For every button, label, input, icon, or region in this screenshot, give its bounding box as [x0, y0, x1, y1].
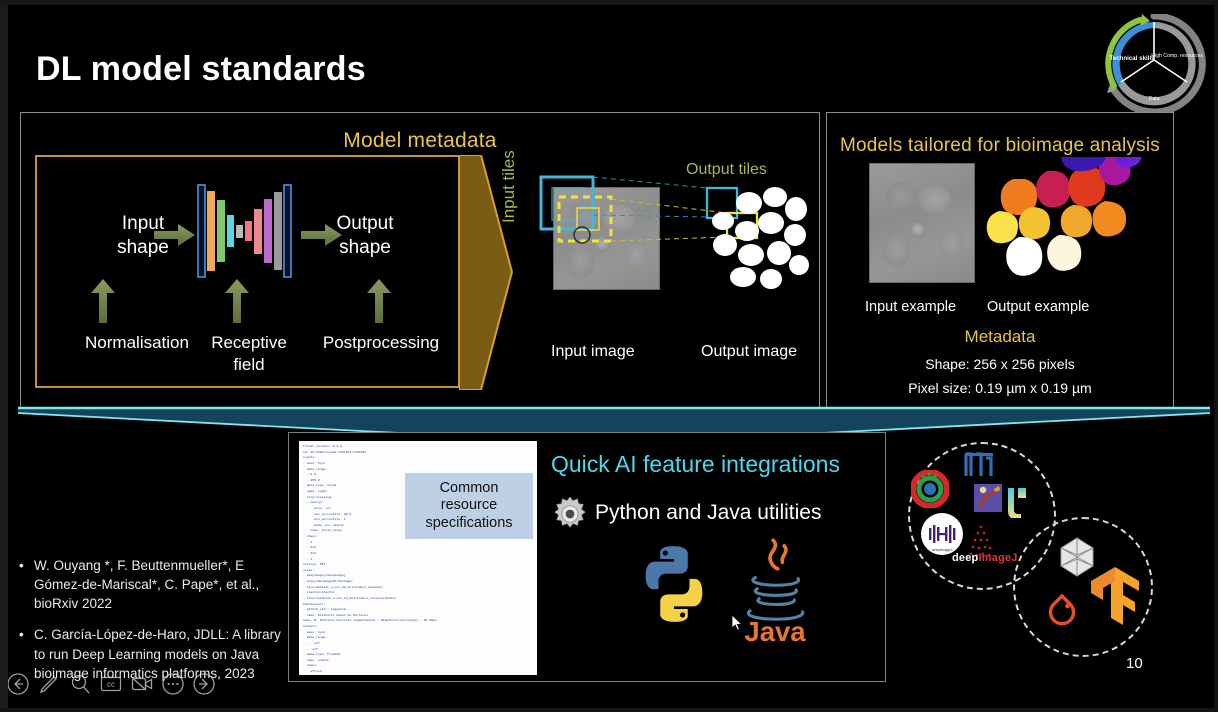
mouse-cursor	[731, 614, 743, 632]
cycle-logo: Technical skills High Comp. resources Da…	[1095, 14, 1213, 114]
zoom-icon[interactable]	[68, 672, 92, 696]
top-edge-border	[0, 0, 1218, 5]
quick-ai-title: Quick AI feature integrations	[551, 451, 840, 478]
panel-quick-ai-integrations: format_version: 0.4.9 id: 10.5281/zenodo…	[288, 432, 886, 682]
unet-architecture-icon	[37, 157, 462, 390]
panel-model-metadata: Model metadata Input shape Output shape …	[20, 112, 820, 412]
imagej-logo	[974, 484, 1002, 517]
closed-captions-icon[interactable]: cc	[99, 672, 123, 696]
bullet-icon: •	[19, 625, 24, 644]
caption-output-example: Output example	[987, 299, 1089, 315]
gear-icon	[551, 495, 589, 533]
label-output-image: Output image	[701, 343, 797, 361]
common-resource-specifications-callout: Common resource specifications	[405, 473, 533, 539]
pen-icon[interactable]	[37, 672, 61, 696]
more-options-icon[interactable]	[161, 672, 185, 696]
bioimage-output-example-thumbnail	[985, 157, 1165, 287]
cycle-segment-label-technical: Technical skills	[1109, 55, 1155, 62]
list-item: • W. Ouyang *, F. Beuttenmueller*, E Góm…	[14, 556, 282, 613]
metadata-pixelsize-line: Pixel size: 0.19 µm x 0.19 µm	[827, 380, 1173, 396]
page-title: DL model standards	[36, 50, 366, 89]
reference-text: W. Ouyang *, F. Beuttenmueller*, E Gómez…	[34, 558, 259, 611]
panel-right-title: Models tailored for bioimage analysis	[827, 135, 1173, 157]
fiji-logo	[962, 450, 996, 485]
qupath-logo	[1005, 486, 1031, 523]
tiling-illustration: Input tiles Output tiles	[501, 155, 816, 405]
svg-text:deepImageJ: deepImageJ	[932, 548, 953, 552]
cycle-segment-label-data: Data	[1149, 96, 1160, 102]
python-java-utilities-label: Python and Java utilities	[595, 501, 821, 525]
svg-text:cc: cc	[107, 680, 115, 689]
panel-bioimage-models: Models tailored for bioimage analysis In…	[826, 112, 1174, 412]
tensorflow-logo	[1089, 565, 1141, 634]
bullet-icon: •	[19, 556, 24, 575]
metadata-heading: Metadata	[827, 327, 1173, 347]
next-slide-icon[interactable]	[192, 672, 216, 696]
left-edge-border	[0, 0, 8, 712]
previous-slide-icon[interactable]	[6, 672, 30, 696]
bioimage-input-example-thumbnail	[869, 163, 975, 283]
panel-left-title: Model metadata	[21, 129, 819, 153]
label-input-image: Input image	[551, 343, 635, 361]
cycle-segment-label-resources: High Comp. resources	[1151, 53, 1203, 59]
metadata-shape-line: Shape: 256 x 256 pixels	[827, 356, 1173, 372]
icy-logo	[911, 470, 949, 513]
page-number: 10	[1126, 655, 1143, 672]
pytorch-logo	[1043, 593, 1081, 640]
java-wordmark: Java	[744, 616, 806, 643]
slide-canvas: DL model standards Technical skills High…	[0, 0, 1218, 712]
camera-off-icon[interactable]	[130, 672, 154, 696]
model-yaml-card: format_version: 0.4.9 id: 10.5281/zenodo…	[299, 441, 537, 675]
caption-input-example: Input example	[865, 299, 956, 315]
model-metadata-diagram-box: Input shape Output shape Normalisation R…	[35, 155, 460, 388]
python-logo	[631, 541, 717, 627]
right-edge-border	[1214, 0, 1218, 712]
bottom-edge-border	[0, 708, 1218, 712]
presentation-toolbar[interactable]: cc	[6, 672, 216, 696]
output-image-thumbnail	[701, 183, 811, 295]
deepimagej-wordmark: deepImageJ	[952, 552, 1018, 564]
